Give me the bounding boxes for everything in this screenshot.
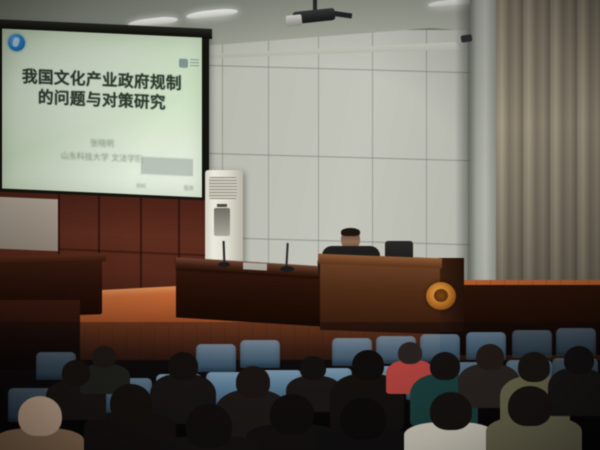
paper-document [243, 262, 267, 270]
audience-member-head [398, 342, 422, 364]
air-conditioner-display-icon [217, 204, 227, 207]
audience-member-head [92, 346, 116, 368]
slide-content-placeholder-box [140, 156, 194, 177]
lecture-hall-photo: 我国文化产业政府规制 的问题与对策研究 张晓明 山东科技大学 文法学院 资料 图… [0, 0, 600, 450]
audience-member-head [18, 396, 62, 436]
projection-screen[interactable]: 我国文化产业政府规制 的问题与对策研究 张晓明 山东科技大学 文法学院 资料 图… [2, 28, 202, 197]
air-conditioner-vent-icon [209, 177, 237, 199]
audience-member-head [62, 360, 90, 386]
air-conditioner-panel [214, 208, 230, 236]
audience-member-head [236, 366, 270, 398]
audience-member-head [186, 404, 232, 448]
wall-light-patch [0, 197, 58, 251]
microphone-base-icon [280, 266, 294, 272]
podium-emblem-icon [426, 282, 456, 310]
slide-corner-text-lines-icon [190, 59, 199, 68]
audience-member-head [352, 350, 384, 380]
audience-member-head [430, 392, 472, 430]
audience-member-head [340, 398, 386, 440]
audience-seat [240, 340, 280, 368]
slide-footer-left: 资料 [136, 183, 146, 190]
audience-member-torso [548, 368, 600, 416]
slide-corner-watermark-icon [179, 58, 188, 67]
audience-member-head [564, 346, 594, 374]
audience-member-head [110, 384, 152, 422]
logo-mark [12, 36, 21, 47]
speaker-hair [341, 228, 360, 236]
microphone-base-icon [218, 262, 230, 267]
audience-member-head [270, 394, 314, 434]
audience-seat [196, 344, 236, 372]
audience-member-head [430, 352, 460, 380]
audience-member-head [168, 352, 198, 380]
audience-member-head [300, 356, 326, 380]
projector-lens-icon [285, 14, 302, 27]
audience-member-head [508, 386, 552, 426]
blue-circular-university-logo-icon [8, 34, 25, 52]
slide-footer-right: 图表 [184, 185, 194, 192]
audience-member-head [518, 352, 550, 382]
audience-member-head [476, 344, 504, 370]
podium-emblem-center [434, 289, 448, 302]
